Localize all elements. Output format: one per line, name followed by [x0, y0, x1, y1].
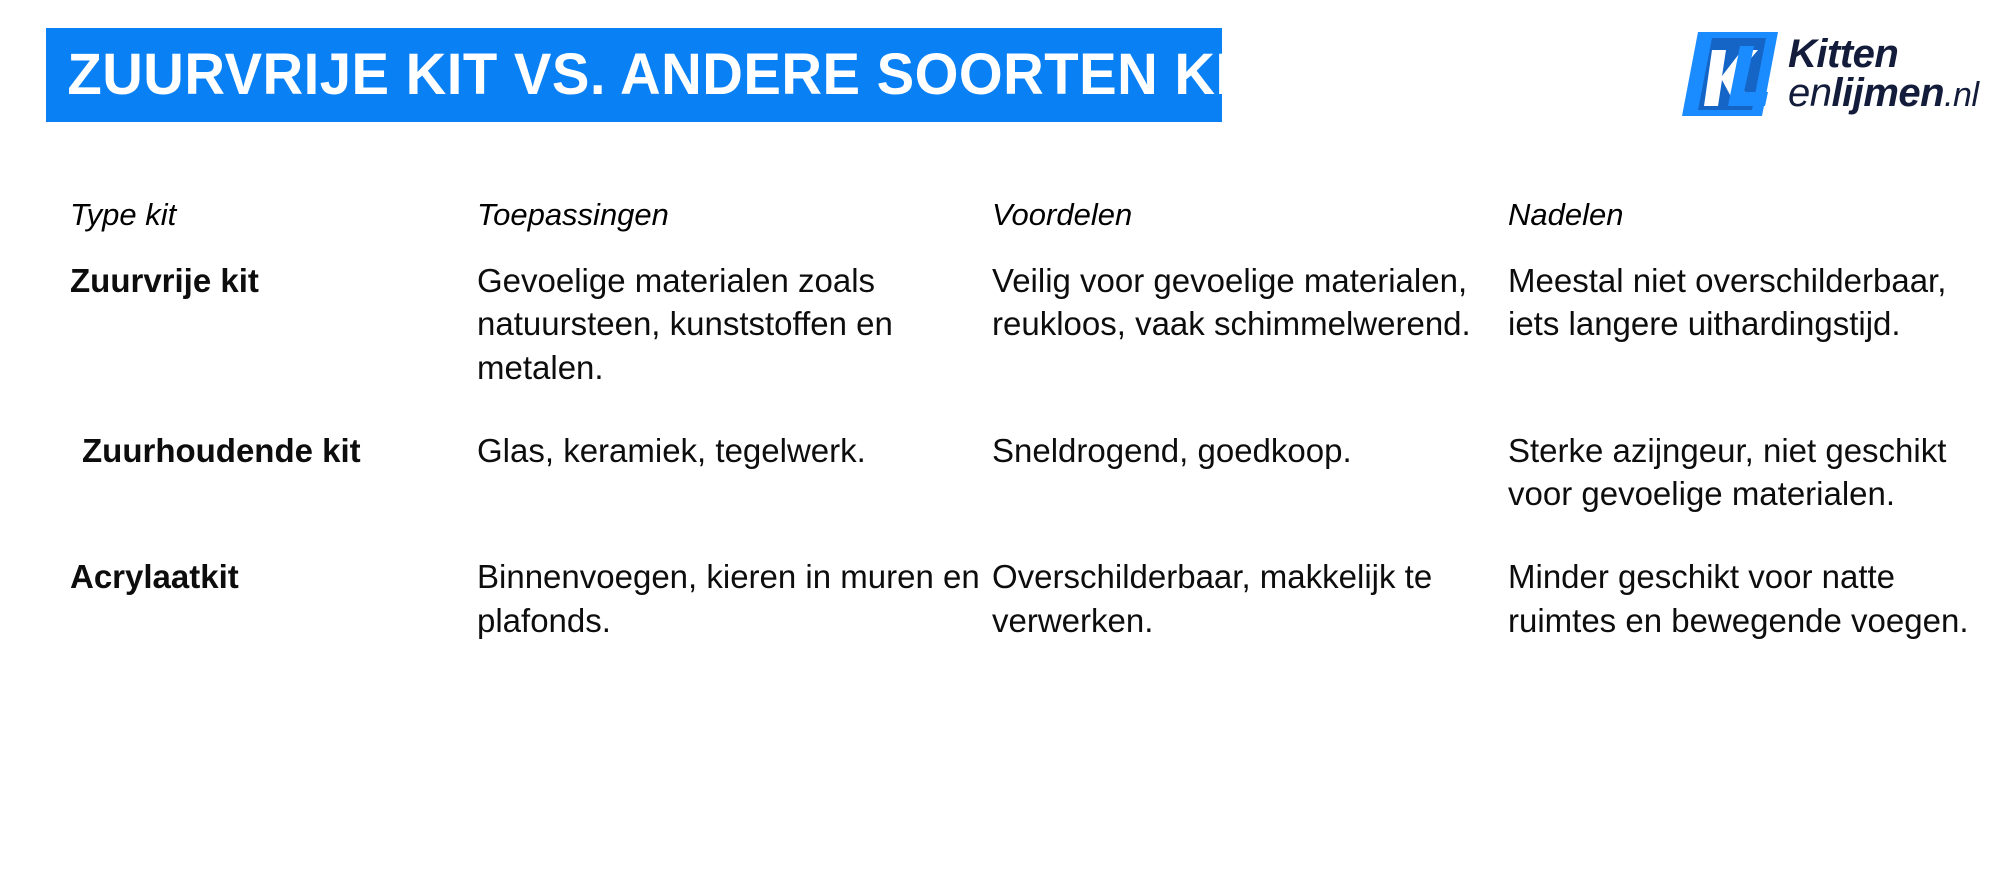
page-title: ZUURVRIJE KIT VS. ANDERE SOORTEN KIT — [46, 46, 1266, 104]
cell-voordelen: Veilig voor gevoelige materialen, reuklo… — [992, 259, 1508, 345]
cell-type-kit: Acrylaatkit — [70, 555, 477, 598]
brand-word-lijmen: lijmen — [1832, 71, 1945, 115]
cell-type-kit: Zuurvrije kit — [70, 259, 477, 302]
cell-toepassingen: Glas, keramiek, tegelwerk. — [477, 429, 992, 472]
infographic-page: ZUURVRIJE KIT VS. ANDERE SOORTEN KIT Kit… — [0, 0, 2000, 889]
cell-type-kit: Zuurhoudende kit — [82, 429, 477, 472]
table-row: Zuurvrije kit Gevoelige materialen zoals… — [0, 259, 2000, 389]
column-header-voordelen: Voordelen — [992, 196, 1508, 233]
cell-nadelen: Sterke azijngeur, niet geschikt voor gev… — [1508, 429, 2000, 515]
brand-word-en: en — [1788, 71, 1832, 115]
brand-word-tld: .nl — [1944, 76, 1978, 114]
brand-wordmark: Kitten enlijmen.nl — [1788, 35, 1979, 113]
cell-toepassingen: Gevoelige materialen zoals natuursteen, … — [477, 259, 992, 389]
title-banner: ZUURVRIJE KIT VS. ANDERE SOORTEN KIT — [46, 28, 1222, 122]
table-header-row: Type kit Toepassingen Voordelen Nadelen — [0, 196, 2000, 233]
table-row: Acrylaatkit Binnenvoegen, kieren in mure… — [0, 555, 2000, 641]
column-header-nadelen: Nadelen — [1508, 196, 2000, 233]
brand-word-kitten: Kitten — [1788, 35, 1979, 74]
cell-toepassingen: Binnenvoegen, kieren in muren en plafond… — [477, 555, 992, 641]
cell-voordelen: Sneldrogend, goedkoop. — [992, 429, 1508, 472]
comparison-table: Type kit Toepassingen Voordelen Nadelen … — [0, 196, 2000, 682]
table-row: Zuurhoudende kit Glas, keramiek, tegelwe… — [0, 429, 2000, 515]
cell-nadelen: Meestal niet overschilderbaar, iets lang… — [1508, 259, 2000, 345]
cell-nadelen: Minder geschikt voor natte ruimtes en be… — [1508, 555, 2000, 641]
brand-logo[interactable]: Kitten enlijmen.nl — [1682, 24, 1998, 124]
cell-voordelen: Overschilderbaar, makkelijk te verwerken… — [992, 555, 1508, 641]
kl-logo-icon — [1682, 28, 1778, 120]
column-header-type-kit: Type kit — [70, 196, 477, 233]
brand-word-enlijmen: enlijmen.nl — [1788, 74, 1979, 113]
column-header-toepassingen: Toepassingen — [477, 196, 992, 233]
